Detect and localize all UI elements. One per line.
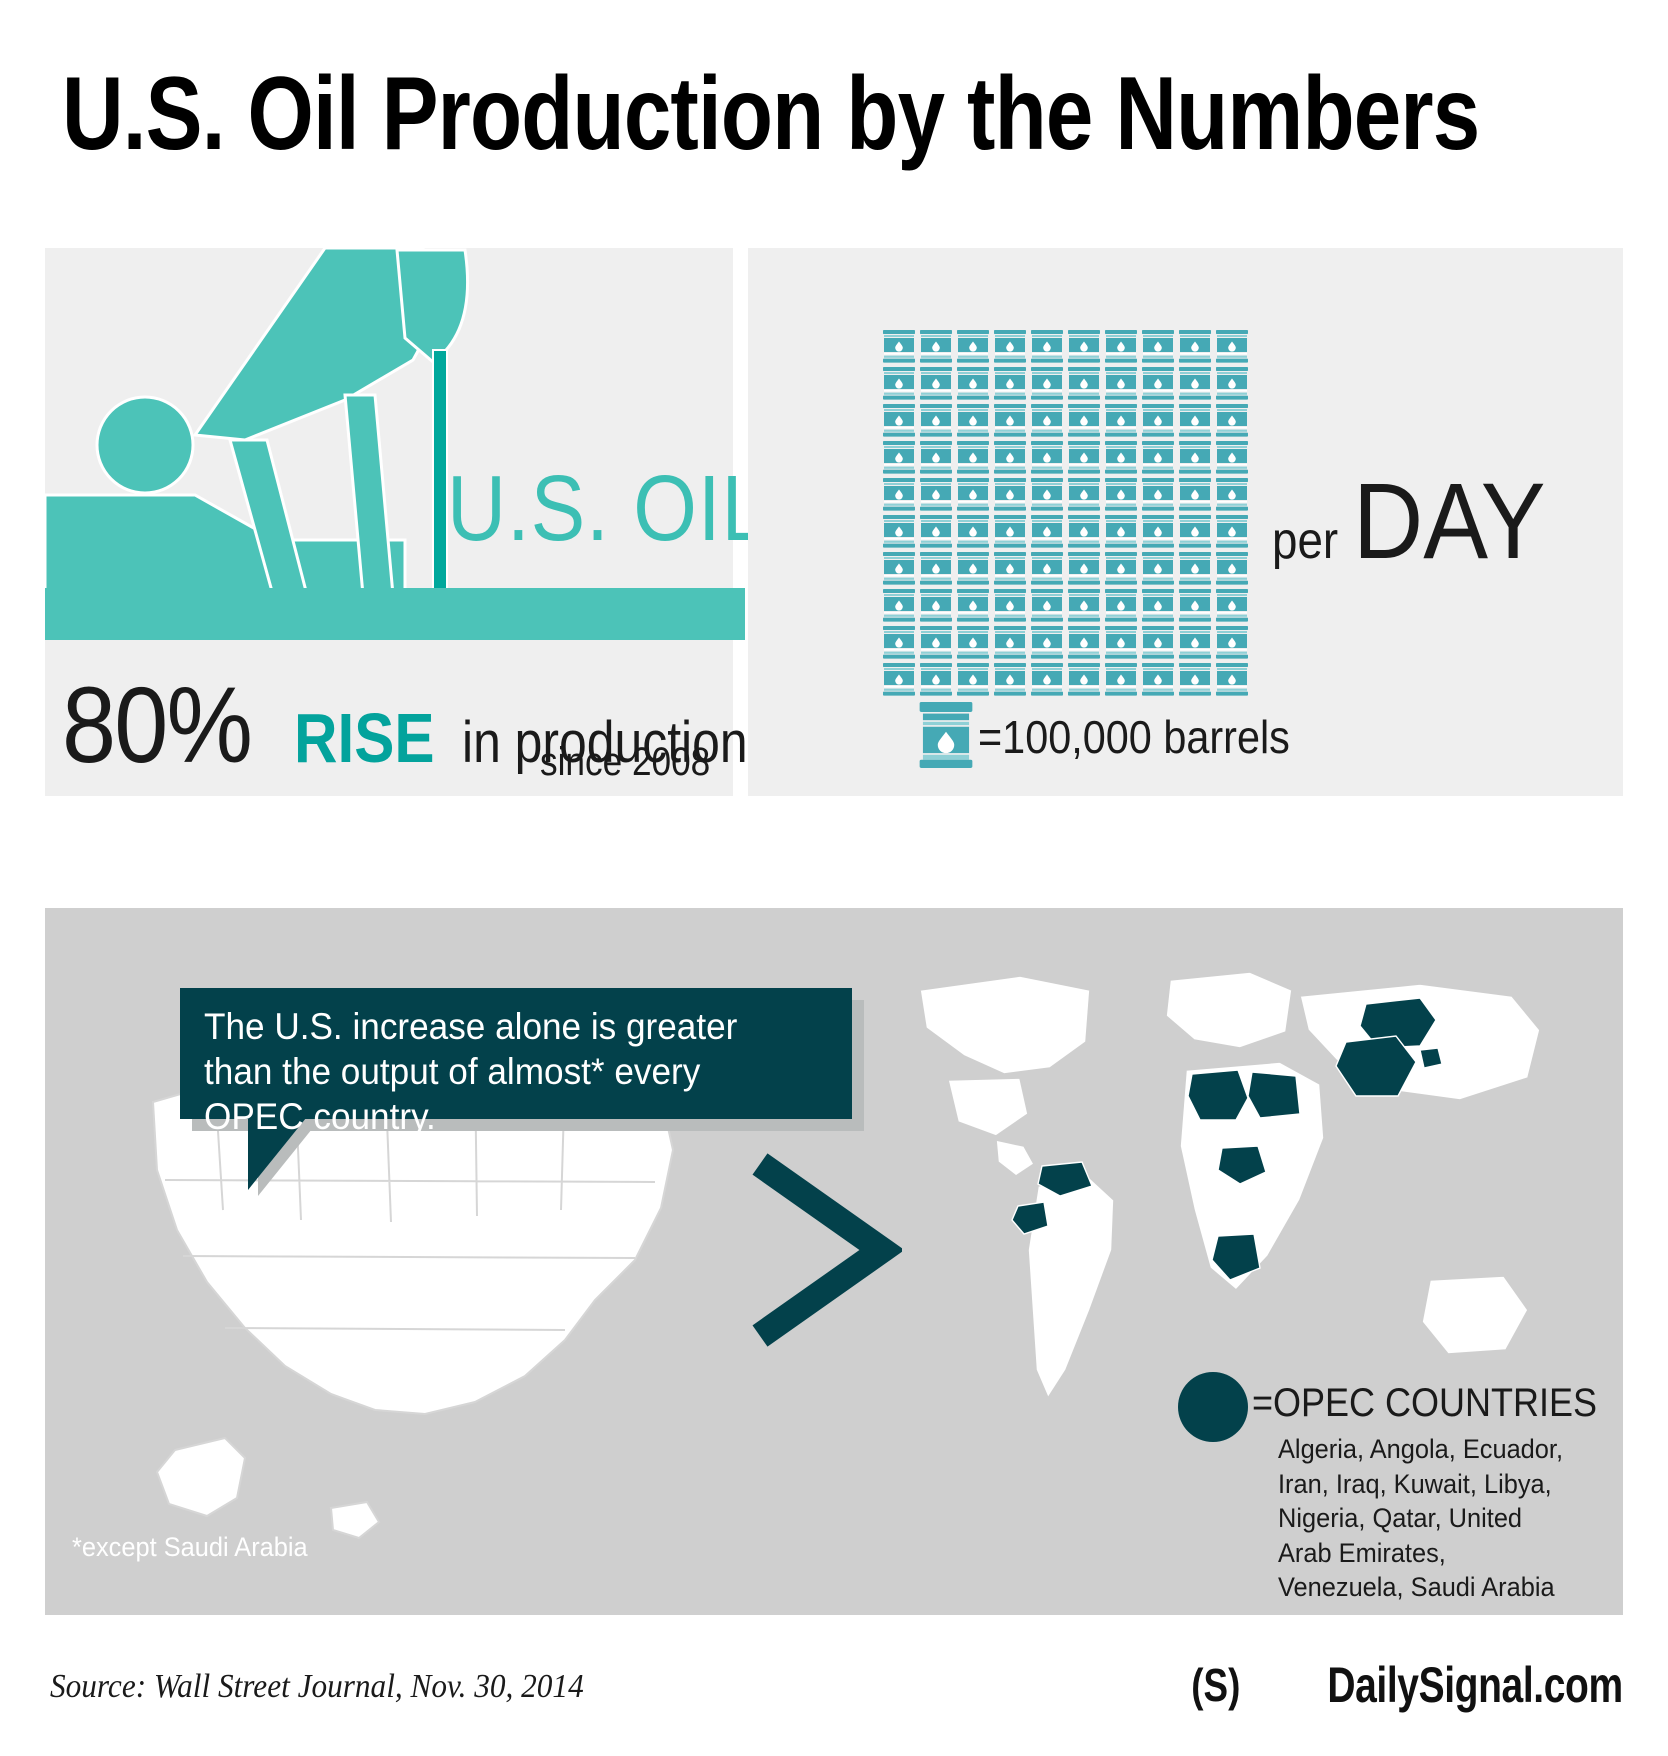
logo-mark-icon: (S) bbox=[1191, 1658, 1240, 1712]
opec-country-list: Algeria, Angola, Ecuador, Iran, Iraq, Ku… bbox=[1278, 1432, 1569, 1605]
barrel-icon bbox=[919, 663, 953, 697]
barrel-icon bbox=[1215, 367, 1249, 401]
oil-pumpjack-icon bbox=[45, 240, 745, 640]
barrel-icon bbox=[1030, 663, 1064, 697]
barrel-icon bbox=[1141, 441, 1175, 475]
since-year-label: since 2008 bbox=[540, 740, 710, 785]
barrel-icon bbox=[1215, 552, 1249, 586]
barrel-icon bbox=[1030, 478, 1064, 512]
barrel-icon bbox=[1104, 367, 1138, 401]
barrel-icon bbox=[919, 515, 953, 549]
barrel-icon bbox=[1141, 626, 1175, 660]
barrel-icon bbox=[1178, 515, 1212, 549]
barrel-icon bbox=[1067, 515, 1101, 549]
barrel-icon bbox=[1104, 478, 1138, 512]
barrel-icon bbox=[1030, 330, 1064, 364]
barrel-icon bbox=[1141, 663, 1175, 697]
barrel-icon bbox=[919, 330, 953, 364]
barrel-icon bbox=[919, 552, 953, 586]
barrel-icon bbox=[1030, 626, 1064, 660]
barrel-icon bbox=[1067, 663, 1101, 697]
barrel-icon bbox=[1030, 552, 1064, 586]
opec-legend-dot-icon bbox=[1178, 1372, 1248, 1442]
barrel-pictogram-grid bbox=[882, 330, 1249, 697]
barrel-icon bbox=[993, 552, 1027, 586]
barrel-icon bbox=[1104, 441, 1138, 475]
barrel-icon bbox=[1104, 404, 1138, 438]
day-word: DAY bbox=[1353, 458, 1546, 583]
barrel-icon bbox=[1104, 330, 1138, 364]
logo-text: DailySignal.com bbox=[1328, 1656, 1623, 1714]
barrel-icon bbox=[1178, 478, 1212, 512]
page-title: U.S. Oil Production by the Numbers bbox=[62, 62, 1479, 166]
barrel-icon bbox=[956, 478, 990, 512]
barrel-icon bbox=[956, 552, 990, 586]
barrel-icon bbox=[1215, 404, 1249, 438]
barrel-icon bbox=[993, 330, 1027, 364]
barrel-icon bbox=[1067, 626, 1101, 660]
barrel-icon bbox=[882, 515, 916, 549]
barrel-icon bbox=[882, 478, 916, 512]
barrel-icon bbox=[1215, 626, 1249, 660]
barrel-icon bbox=[956, 404, 990, 438]
barrel-icon bbox=[1030, 589, 1064, 623]
barrel-icon bbox=[882, 552, 916, 586]
barrel-icon bbox=[1141, 367, 1175, 401]
source-credit: Source: Wall Street Journal, Nov. 30, 20… bbox=[50, 1668, 584, 1706]
dailysignal-logo[interactable]: (S) DailySignal.com bbox=[1179, 1656, 1623, 1714]
barrel-icon bbox=[1141, 515, 1175, 549]
barrel-icon bbox=[882, 441, 916, 475]
barrel-icon bbox=[1141, 589, 1175, 623]
barrel-icon bbox=[1178, 663, 1212, 697]
barrel-icon bbox=[1141, 552, 1175, 586]
barrel-icon bbox=[919, 589, 953, 623]
barrel-icon bbox=[1067, 367, 1101, 401]
barrel-icon bbox=[1104, 626, 1138, 660]
barrel-icon bbox=[956, 626, 990, 660]
greater-than-icon bbox=[742, 1150, 902, 1350]
barrel-icon bbox=[1178, 367, 1212, 401]
barrel-icon bbox=[1141, 330, 1175, 364]
callout-text: The U.S. increase alone is greater than … bbox=[204, 1004, 803, 1139]
barrel-icon bbox=[993, 478, 1027, 512]
barrel-icon bbox=[993, 589, 1027, 623]
barrel-icon bbox=[1215, 441, 1249, 475]
barrel-icon bbox=[1178, 404, 1212, 438]
barrel-icon bbox=[1067, 441, 1101, 475]
legend-oil-barrel-icon bbox=[918, 700, 974, 770]
barrel-icon bbox=[993, 515, 1027, 549]
barrel-icon bbox=[919, 478, 953, 512]
world-map bbox=[900, 950, 1560, 1430]
saudi-footnote: *except Saudi Arabia bbox=[72, 1532, 308, 1563]
rise-word: RISE bbox=[294, 698, 435, 778]
barrel-icon bbox=[1178, 441, 1212, 475]
barrel-icon bbox=[882, 330, 916, 364]
barrel-icon bbox=[1141, 478, 1175, 512]
barrel-icon bbox=[1067, 330, 1101, 364]
barrel-icon bbox=[1215, 589, 1249, 623]
barrel-icon bbox=[993, 367, 1027, 401]
us-oil-label: U.S. OIL bbox=[447, 455, 768, 562]
barrel-icon bbox=[919, 404, 953, 438]
barrel-icon bbox=[956, 515, 990, 549]
barrel-icon bbox=[1178, 330, 1212, 364]
barrel-icon bbox=[1067, 552, 1101, 586]
barrel-icon bbox=[1067, 478, 1101, 512]
barrel-icon bbox=[1104, 589, 1138, 623]
per-day-label: per DAY bbox=[1272, 458, 1567, 583]
barrel-icon bbox=[956, 330, 990, 364]
barrel-icon bbox=[956, 663, 990, 697]
barrel-icon bbox=[1030, 441, 1064, 475]
barrel-legend-text: =100,000 barrels bbox=[978, 710, 1290, 764]
per-word: per bbox=[1272, 511, 1338, 571]
barrel-icon bbox=[1215, 478, 1249, 512]
infographic-page: U.S. Oil Production by the Numbers bbox=[0, 0, 1668, 1756]
barrel-icon bbox=[1215, 663, 1249, 697]
barrel-icon bbox=[1067, 589, 1101, 623]
barrel-icon bbox=[1104, 663, 1138, 697]
barrel-icon bbox=[882, 589, 916, 623]
barrel-icon bbox=[1141, 404, 1175, 438]
barrel-icon bbox=[919, 441, 953, 475]
barrel-icon bbox=[993, 404, 1027, 438]
barrel-icon bbox=[882, 404, 916, 438]
barrel-icon bbox=[1104, 515, 1138, 549]
barrel-icon bbox=[1178, 589, 1212, 623]
barrel-icon bbox=[882, 663, 916, 697]
barrel-icon bbox=[956, 367, 990, 401]
opec-legend-label: =OPEC COUNTRIES bbox=[1252, 1381, 1597, 1426]
barrel-icon bbox=[993, 663, 1027, 697]
rise-percent: 80% bbox=[62, 662, 251, 787]
barrel-icon bbox=[919, 626, 953, 660]
barrel-icon bbox=[882, 367, 916, 401]
barrel-icon bbox=[1104, 552, 1138, 586]
barrel-icon bbox=[956, 441, 990, 475]
barrel-icon bbox=[1067, 404, 1101, 438]
barrel-icon bbox=[1030, 367, 1064, 401]
barrel-icon bbox=[1215, 330, 1249, 364]
barrel-icon bbox=[1178, 552, 1212, 586]
barrel-icon bbox=[1030, 515, 1064, 549]
barrel-icon bbox=[993, 626, 1027, 660]
barrel-icon bbox=[882, 626, 916, 660]
barrel-icon bbox=[1178, 626, 1212, 660]
barrel-icon bbox=[919, 367, 953, 401]
barrel-icon bbox=[993, 441, 1027, 475]
barrel-icon bbox=[956, 589, 990, 623]
barrel-icon bbox=[1030, 404, 1064, 438]
barrel-icon bbox=[1215, 515, 1249, 549]
